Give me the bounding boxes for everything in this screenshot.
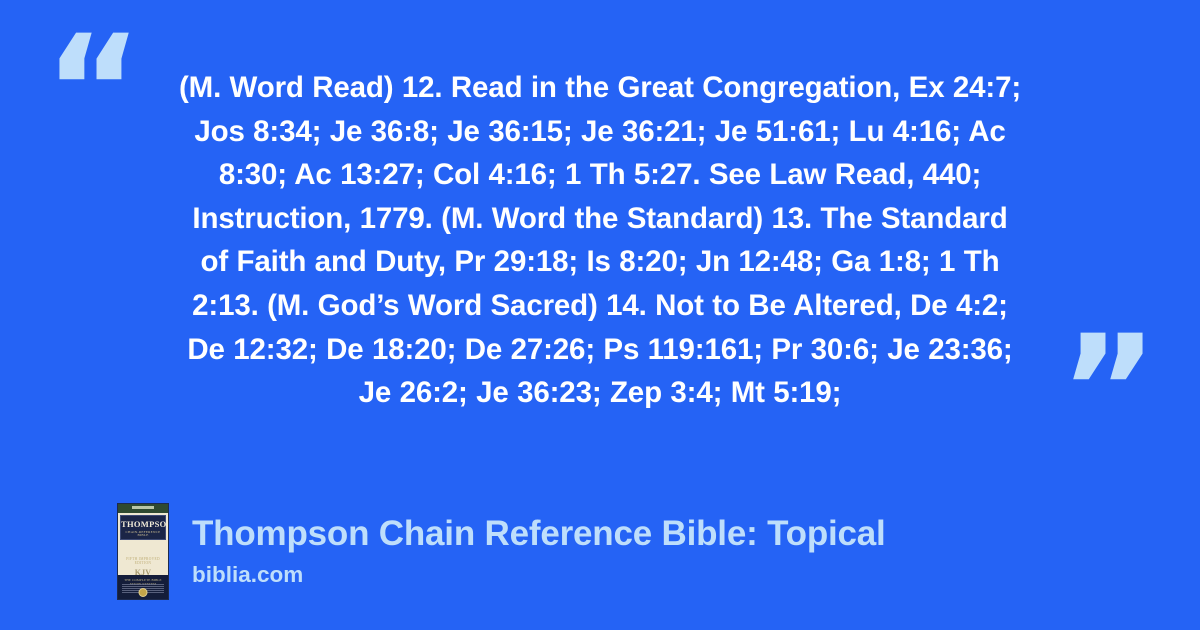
book-cover-top-band [118,504,168,513]
book-cover-spine-label [132,506,154,509]
quote-line: (M. Word Read) 12. Read in the Great Con… [179,71,1021,104]
quote-line: 2:13. (M. God’s Word Sacred) 14. Not to … [192,289,1008,322]
quote-line: Jos 8:34; Je 36:8; Je 36:15; Je 36:21; J… [194,115,1005,148]
book-cover-bottom-panel: THE COMPLETE BIBLE STUDY SYSTEM [118,575,168,599]
resource-title: Thompson Chain Reference Bible: Topical [192,513,886,555]
quote-line: Instruction, 1779. (M. Word the Standard… [192,202,1007,235]
quote-line: Je 26:2; Je 36:23; Zep 3:4; Mt 5:19; [359,376,842,409]
book-cover-title: THOMPSON [121,520,165,529]
book-cover-thumbnail: THOMPSON CHAIN-REFERENCE BIBLE FIFTH IMP… [117,503,169,600]
book-cover-text-column [150,584,164,594]
book-cover-subtitle: CHAIN-REFERENCE BIBLE [121,531,165,538]
book-cover-seal-icon [139,588,148,597]
quote-card: “ (M. Word Read) 12. Read in the Great C… [0,0,1200,630]
quote-line: De 12:32; De 18:20; De 27:26; Ps 119:161… [187,333,1012,366]
quote-line: 8:30; Ac 13:27; Col 4:16; 1 Th 5:27. See… [219,158,981,191]
close-quote-icon: ” [1059,316,1158,466]
resource-site-link[interactable]: biblia.com [192,560,886,590]
quote-text: (M. Word Read) 12. Read in the Great Con… [118,66,1082,415]
quote-line: of Faith and Duty, Pr 29:18; Is 8:20; Jn… [201,245,1000,278]
attribution-footer: THOMPSON CHAIN-REFERENCE BIBLE FIFTH IMP… [117,503,886,600]
book-cover-edition-label: FIFTH IMPROVED EDITION [118,557,168,565]
attribution-text-block: Thompson Chain Reference Bible: Topical … [192,513,886,590]
book-cover-text-column [122,584,136,594]
book-cover-title-panel: THOMPSON CHAIN-REFERENCE BIBLE [120,515,166,540]
